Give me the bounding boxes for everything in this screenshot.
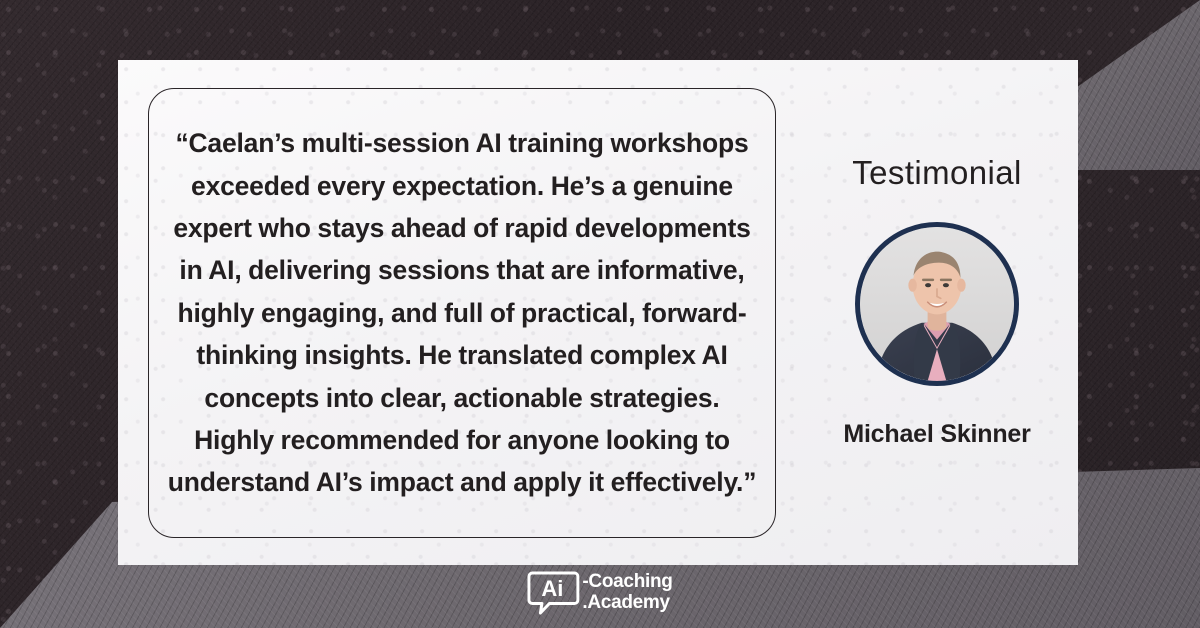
brand-logo: Ai -Coaching .Academy: [527, 570, 672, 616]
speech-bubble-icon: Ai: [527, 570, 579, 616]
testimonial-card: “Caelan’s multi-session AI training work…: [118, 60, 1078, 565]
quote-text: “Caelan’s multi-session AI training work…: [165, 122, 759, 504]
page-title: Testimonial: [852, 154, 1021, 192]
attribution-column: Testimonial: [796, 88, 1078, 538]
svg-text:Ai: Ai: [541, 576, 563, 601]
logo-line-2: .Academy: [582, 593, 672, 614]
logo-line-1: -Coaching: [582, 572, 672, 593]
logo-wordmark: -Coaching .Academy: [582, 572, 672, 613]
person-name: Michael Skinner: [843, 420, 1030, 449]
testimonial-graphic: “Caelan’s multi-session AI training work…: [0, 0, 1200, 628]
avatar: [855, 222, 1019, 386]
quote-box: “Caelan’s multi-session AI training work…: [148, 88, 776, 538]
avatar-portrait-icon: [860, 227, 1014, 381]
